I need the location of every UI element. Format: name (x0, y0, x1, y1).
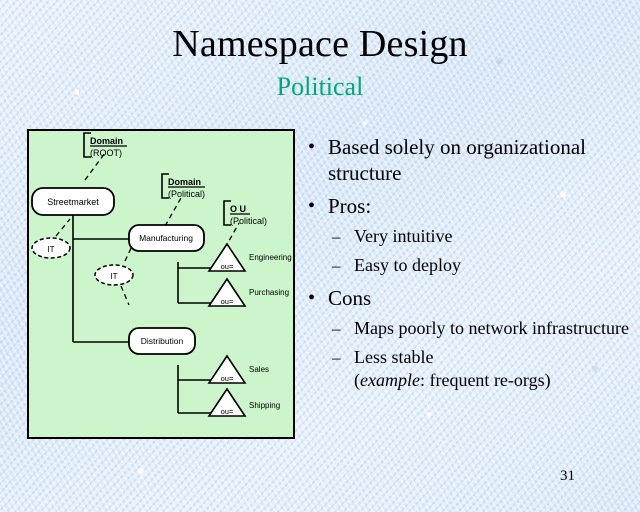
bullet-marker: – (332, 346, 341, 369)
ou-shipping-inner: ou= (221, 407, 234, 416)
bullet-list: • Based solely on organizational structu… (306, 134, 636, 393)
bullet-based-solely: • Based solely on organizational structu… (306, 134, 636, 186)
bullet-marker: – (332, 254, 341, 277)
bullet-emphasis-example: example (360, 370, 420, 390)
node-manufacturing-group: Manufacturing (129, 225, 204, 251)
callout-ou-political-line1: O U (230, 204, 246, 214)
callout-ou-political-group: O U (Political) (230, 204, 267, 226)
bullet-marker: • (308, 134, 315, 160)
bullet-text: Maps poorly to network infrastructure (354, 318, 629, 338)
ou-purchasing-group: ou= Purchasing (209, 279, 289, 306)
callout-domain-root-line2: (ROOT) (90, 148, 122, 158)
bullet-easy-to-deploy: – Easy to deploy (306, 254, 636, 277)
slide-canvas: Namespace Design Political (0, 0, 640, 512)
callout-domain-political-line2: (Political) (168, 189, 205, 199)
ou-shipping-label: Shipping (249, 401, 280, 410)
bullet-text-line2: : frequent re-orgs) (420, 370, 551, 390)
bullet-marker: • (308, 193, 315, 219)
bullet-text-line1: Less stable (354, 347, 433, 367)
bullet-marker: – (332, 225, 341, 248)
bullet-maps-poorly: – Maps poorly to network infrastructure (306, 317, 636, 340)
node-streetmarket-group: Streetmarket (32, 188, 114, 215)
callout-domain-political-group: Domain (Political) (168, 177, 205, 199)
leader-it-streetmarket (56, 219, 70, 236)
ou-purchasing-label: Purchasing (249, 288, 289, 297)
bullet-less-stable: – Less stable (example: frequent re-orgs… (306, 346, 636, 392)
callout-ou-political-line2: (Political) (230, 216, 267, 226)
bullet-very-intuitive: – Very intuitive (306, 225, 636, 248)
node-distribution-group: Distribution (129, 328, 195, 354)
bullet-text: Very intuitive (354, 226, 452, 246)
ellipse-it-manufacturing-label: IT (110, 272, 117, 281)
bullet-marker: – (332, 317, 341, 340)
node-manufacturing-label: Manufacturing (139, 233, 193, 243)
node-distribution-label: Distribution (141, 336, 184, 346)
callout-domain-root-line1: Domain (90, 136, 123, 146)
bullet-pros: • Pros: (306, 193, 636, 219)
node-streetmarket-label: Streetmarket (47, 197, 99, 207)
page-number: 31 (560, 468, 620, 485)
ou-sales-group: ou= Sales (209, 356, 269, 383)
bullet-marker: • (308, 285, 315, 311)
ellipse-it-streetmarket-label: IT (47, 245, 54, 254)
namespace-diagram: Domain (ROOT) Domain (Political) O U (Po… (27, 129, 295, 439)
ou-sales-label: Sales (249, 365, 269, 374)
ou-shipping-group: ou= Shipping (209, 389, 280, 416)
bullet-cons: • Cons (306, 285, 636, 311)
ou-purchasing-inner: ou= (221, 297, 234, 306)
leader-domain-political (165, 198, 181, 226)
ou-engineering-inner: ou= (221, 262, 234, 271)
bullet-text: Easy to deploy (354, 255, 461, 275)
callout-domain-political-line1: Domain (168, 177, 201, 187)
page-subtitle: Political (0, 72, 640, 102)
callout-domain-root-group: Domain (ROOT) (90, 136, 127, 158)
ou-engineering-group: ou= Engineering (209, 244, 292, 271)
bullet-text: Based solely on organizational structure (328, 135, 586, 185)
ellipse-it-manufacturing-group: IT (95, 265, 133, 285)
bullet-text: Cons (328, 286, 371, 310)
ou-sales-inner: ou= (221, 374, 234, 383)
ellipse-it-streetmarket-group: IT (32, 238, 70, 258)
page-title: Namespace Design (0, 22, 640, 66)
leader-it-manufacturing-bottom (121, 286, 129, 305)
ou-engineering-label: Engineering (249, 253, 292, 262)
bullet-text: Pros: (328, 194, 371, 218)
